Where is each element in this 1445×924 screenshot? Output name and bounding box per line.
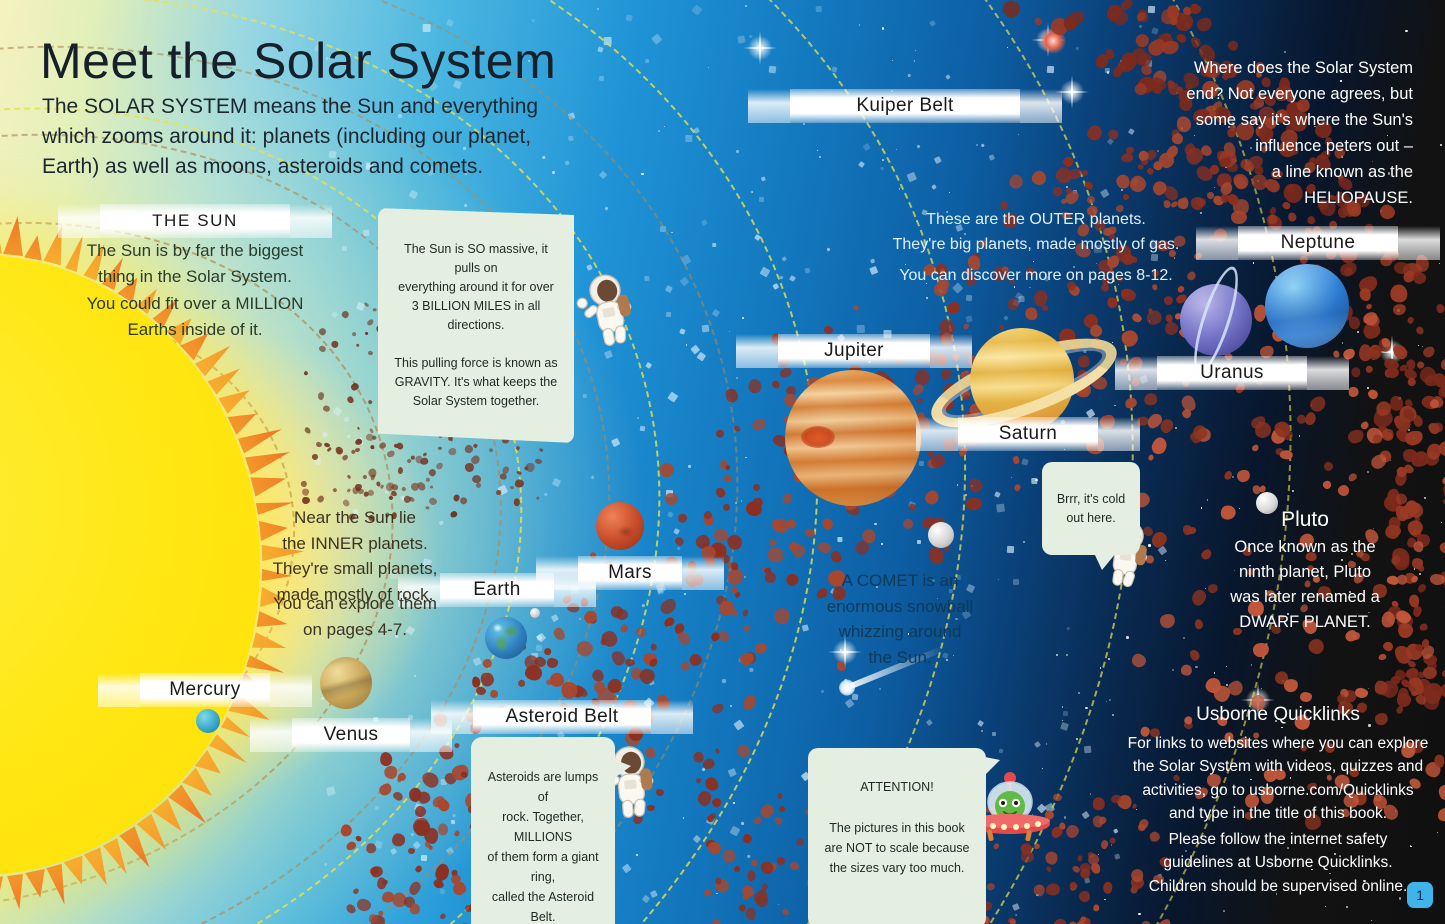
bright-star	[746, 34, 774, 62]
quicklinks-safety: Please follow the internet safety guidel…	[1125, 828, 1431, 898]
star	[1138, 913, 1140, 915]
asteroid	[717, 629, 731, 644]
page-title: Meet the Solar System	[40, 32, 556, 90]
star	[1112, 342, 1113, 343]
star	[1441, 522, 1442, 523]
asteroid	[426, 478, 430, 482]
asteroid-bubble-tail	[613, 759, 631, 779]
asteroid	[302, 489, 310, 497]
star	[1033, 261, 1034, 262]
asteroid	[695, 777, 702, 783]
asteroid	[1060, 198, 1067, 205]
sky-speck	[450, 820, 455, 825]
asteroid	[551, 626, 566, 642]
sky-speck	[346, 434, 350, 438]
asteroid	[365, 331, 369, 335]
sky-speck	[737, 35, 745, 43]
sky-speck	[871, 258, 876, 263]
asteroid	[774, 815, 785, 826]
asteroid	[346, 474, 351, 479]
star	[874, 523, 876, 525]
star	[1062, 720, 1063, 721]
asteroid-bubble: Asteroids are lumps of rock. Together, M…	[471, 737, 615, 924]
asteroid	[303, 371, 308, 376]
star	[1111, 844, 1112, 845]
sky-speck	[599, 76, 604, 81]
asteroid	[1195, 619, 1205, 630]
star	[1405, 30, 1408, 33]
asteroid	[372, 308, 376, 312]
comet-text: A COMET is an enormous snowball whizzing…	[800, 568, 1000, 670]
asteroid	[379, 751, 392, 766]
asteroid	[534, 458, 542, 465]
sky-speck	[1012, 903, 1020, 911]
sky-speck	[804, 268, 810, 274]
planet-earth	[485, 617, 527, 659]
asteroid	[1226, 39, 1239, 52]
sun-flame	[7, 874, 27, 911]
sky-speck	[789, 275, 796, 282]
star	[742, 317, 744, 319]
star	[664, 126, 665, 127]
asteroid	[852, 304, 860, 312]
asteroid	[658, 596, 679, 617]
asteroid	[334, 445, 344, 456]
sky-speck	[1007, 546, 1015, 554]
sky-speck	[604, 207, 608, 211]
asteroid	[388, 495, 394, 500]
asteroid	[902, 518, 914, 530]
sky-speck	[735, 502, 738, 505]
astronaut-icon	[570, 263, 646, 356]
sky-speck	[759, 266, 770, 277]
sky-speck	[668, 392, 679, 403]
asteroid	[765, 544, 786, 565]
asteroid	[1157, 612, 1176, 631]
star	[1346, 906, 1348, 908]
quicklinks-title: Usborne Quicklinks	[1133, 704, 1423, 726]
star	[733, 802, 735, 804]
sky-speck	[907, 172, 917, 182]
asteroid	[730, 609, 738, 617]
asteroid	[1304, 412, 1317, 427]
star	[915, 50, 916, 51]
sky-speck	[691, 344, 700, 353]
asteroid	[368, 351, 373, 356]
bright-star	[1058, 78, 1086, 106]
asteroid	[350, 381, 361, 391]
sky-speck	[1066, 626, 1069, 629]
asteroid	[1417, 582, 1427, 593]
sky-speck	[754, 234, 761, 241]
asteroid	[741, 693, 758, 712]
star	[641, 173, 644, 176]
sky-speck	[1151, 27, 1159, 35]
asteroid	[774, 608, 789, 624]
asteroid	[650, 643, 657, 651]
asteroid	[1410, 691, 1417, 697]
star	[1104, 899, 1106, 901]
bright-star-ray	[1031, 39, 1065, 41]
asteroid	[1351, 367, 1361, 378]
sky-speck	[1013, 578, 1019, 584]
star	[683, 817, 685, 819]
asteroid	[1119, 287, 1136, 302]
asteroid	[366, 842, 377, 853]
asteroid	[1109, 837, 1117, 845]
sky-speck	[463, 203, 468, 208]
star	[1253, 262, 1255, 264]
asteroid	[1366, 388, 1379, 401]
sky-speck	[685, 135, 692, 142]
sky-speck	[423, 23, 431, 31]
sky-speck	[1113, 829, 1118, 834]
asteroid	[332, 487, 338, 493]
asteroid	[449, 448, 458, 457]
asteroid	[1064, 823, 1081, 840]
asteroid	[710, 702, 725, 716]
sky-speck	[919, 461, 924, 466]
planet-mercury	[196, 709, 220, 733]
star	[1109, 699, 1111, 701]
asteroid	[1130, 652, 1147, 669]
star	[1112, 714, 1114, 716]
star	[1367, 471, 1369, 473]
asteroid	[1391, 302, 1407, 316]
star	[744, 576, 746, 578]
asteroid	[722, 503, 732, 513]
asteroid	[1014, 484, 1021, 492]
sky-speck	[323, 862, 328, 867]
sky-speck	[322, 431, 329, 438]
sky-speck	[363, 230, 370, 237]
sky-speck	[926, 719, 933, 726]
sky-speck	[816, 6, 822, 12]
asteroid	[634, 625, 648, 639]
asteroid	[1306, 215, 1316, 225]
asteroid	[1053, 165, 1074, 186]
sky-speck	[604, 36, 612, 44]
asteroid	[817, 542, 832, 554]
sky-speck	[642, 895, 650, 903]
asteroid	[1077, 855, 1082, 861]
asteroid	[1339, 260, 1359, 278]
inner-planets-pages: You can explore them on pages 4-7.	[255, 591, 455, 642]
sky-speck	[945, 74, 951, 80]
asteroid	[673, 535, 685, 547]
asteroid	[439, 913, 447, 920]
asteroid	[1321, 480, 1331, 490]
asteroid	[600, 638, 606, 646]
asteroid	[734, 866, 741, 873]
asteroid	[347, 396, 356, 405]
asteroid	[481, 657, 493, 669]
sky-speck	[446, 847, 455, 856]
asteroid	[318, 345, 327, 353]
star	[1200, 212, 1202, 214]
asteroid	[1103, 881, 1113, 893]
sky-speck	[597, 8, 600, 11]
asteroid	[741, 833, 753, 845]
sky-speck	[994, 491, 1000, 497]
star	[900, 187, 901, 188]
sky-speck	[410, 832, 413, 835]
star	[892, 60, 893, 61]
sky-speck	[680, 255, 691, 266]
star	[1289, 478, 1291, 480]
star	[658, 130, 660, 132]
sky-speck	[446, 19, 454, 27]
asteroid	[1051, 916, 1069, 924]
star	[949, 192, 950, 193]
asteroid	[1251, 443, 1260, 452]
asteroid	[745, 907, 757, 921]
page-number-badge: 1	[1407, 882, 1433, 908]
star	[1085, 707, 1087, 709]
asteroid	[750, 416, 768, 432]
label-jupiter: Jupiter	[778, 334, 930, 368]
sky-speck	[712, 243, 716, 247]
sky-speck	[342, 246, 348, 252]
asteroid	[697, 790, 713, 807]
star	[1232, 476, 1234, 478]
asteroid	[322, 406, 330, 413]
star	[1357, 331, 1359, 333]
sky-speck	[1099, 189, 1109, 199]
asteroid	[1421, 344, 1437, 359]
star	[671, 232, 673, 234]
asteroid	[459, 496, 469, 506]
star	[957, 484, 958, 485]
sun-graphic	[0, 255, 260, 875]
asteroid	[1100, 839, 1109, 849]
asteroid	[411, 456, 415, 461]
asteroid	[363, 302, 369, 308]
asteroid	[780, 908, 789, 917]
sky-speck	[333, 407, 343, 417]
asteroid	[1365, 364, 1375, 374]
asteroid	[724, 387, 740, 404]
asteroid	[377, 781, 394, 798]
sky-speck	[977, 720, 984, 727]
asteroid	[1252, 641, 1270, 658]
asteroid	[344, 902, 357, 915]
sky-speck	[772, 283, 779, 290]
asteroid	[1085, 123, 1104, 142]
star	[686, 344, 687, 345]
star	[1046, 743, 1047, 744]
sun-flame	[251, 469, 289, 497]
sky-speck	[673, 528, 680, 535]
star	[1172, 669, 1174, 671]
sky-speck	[665, 311, 671, 317]
asteroid	[1131, 312, 1144, 324]
asteroid	[742, 608, 749, 616]
label-asteroid-belt: Asteroid Belt	[473, 700, 651, 734]
asteroid	[1412, 271, 1428, 286]
asteroid	[828, 549, 842, 564]
astronaut-svg	[570, 263, 645, 352]
sky-speck	[551, 614, 559, 622]
sky-speck	[1034, 741, 1041, 748]
asteroid	[354, 437, 363, 445]
asteroid	[1086, 195, 1097, 206]
star	[1325, 906, 1326, 907]
star	[976, 144, 978, 146]
sun-flame	[25, 869, 50, 899]
earth-moon	[530, 608, 540, 618]
asteroid	[368, 468, 378, 478]
asteroid	[1195, 16, 1214, 34]
asteroid	[355, 835, 363, 842]
sky-speck	[759, 197, 765, 203]
asteroid	[473, 444, 478, 449]
asteroid	[1147, 454, 1154, 462]
asteroid	[356, 343, 360, 347]
sky-speck	[645, 59, 650, 64]
star	[741, 500, 743, 502]
star	[1419, 573, 1421, 575]
star	[1106, 701, 1107, 702]
asteroid	[662, 616, 675, 629]
asteroid	[357, 426, 361, 430]
asteroid	[789, 861, 800, 872]
asteroid	[716, 429, 724, 438]
asteroid	[1377, 652, 1387, 660]
asteroid	[714, 486, 727, 499]
star	[1108, 658, 1110, 660]
sky-speck	[676, 546, 681, 551]
asteroid	[415, 865, 424, 874]
asteroid	[776, 856, 785, 865]
planet-mars	[596, 502, 644, 550]
asteroid	[916, 397, 924, 404]
star	[730, 705, 732, 707]
star	[1367, 387, 1369, 389]
asteroid	[986, 883, 995, 892]
asteroid	[1441, 474, 1445, 486]
asteroid	[620, 623, 629, 633]
star	[1422, 346, 1423, 347]
asteroid	[398, 467, 404, 474]
asteroid	[1008, 172, 1025, 190]
sky-speck	[749, 668, 754, 673]
asteroid	[1415, 326, 1425, 336]
asteroid	[609, 649, 627, 668]
star	[926, 297, 928, 299]
asteroid	[356, 898, 372, 912]
star	[1011, 477, 1012, 478]
sky-speck	[1060, 722, 1069, 731]
star	[1023, 541, 1025, 543]
asteroid	[341, 453, 349, 461]
star	[1223, 910, 1225, 912]
sky-speck	[390, 847, 397, 854]
star	[684, 593, 686, 595]
star	[1076, 738, 1078, 740]
star	[1090, 793, 1091, 794]
asteroid	[1436, 806, 1445, 823]
asteroid	[434, 880, 445, 890]
sky-speck	[858, 161, 865, 168]
asteroid	[1408, 594, 1419, 607]
label-mars: Mars	[578, 556, 682, 590]
asteroid	[1114, 173, 1132, 191]
label-uranus: Uranus	[1157, 356, 1307, 390]
asteroid	[377, 878, 386, 890]
star	[1440, 144, 1442, 146]
sky-speck	[531, 19, 534, 22]
sky-speck	[916, 145, 920, 149]
asteroid	[463, 444, 474, 455]
star	[899, 188, 901, 190]
sky-speck	[552, 478, 561, 487]
sun-description: The Sun is by far the biggest thing in t…	[70, 238, 320, 343]
asteroid	[1009, 918, 1017, 924]
star	[1018, 134, 1020, 136]
sky-speck	[667, 511, 673, 517]
sky-speck	[857, 324, 865, 332]
star	[1299, 435, 1301, 437]
star	[1214, 672, 1216, 674]
great-red-spot	[801, 426, 835, 448]
moon-small	[928, 522, 954, 548]
outer-planets-text: These are the OUTER planets. They're big…	[886, 208, 1186, 258]
planet-jupiter	[785, 370, 921, 506]
sky-speck	[769, 66, 776, 73]
star	[817, 150, 819, 152]
asteroid	[301, 481, 308, 488]
sky-speck	[421, 855, 427, 861]
sky-speck	[691, 4, 702, 15]
asteroid	[1033, 17, 1044, 27]
asteroid	[544, 648, 552, 656]
sky-speck	[697, 352, 706, 361]
star	[1126, 636, 1129, 639]
sky-speck	[863, 143, 871, 151]
asteroid	[1419, 623, 1428, 631]
asteroid	[1382, 641, 1394, 653]
bright-star-ray	[1071, 75, 1073, 109]
asteroid	[785, 573, 800, 588]
sky-speck	[996, 504, 1004, 512]
star	[1368, 688, 1369, 689]
star	[1418, 345, 1419, 346]
asteroid	[1180, 664, 1192, 676]
asteroid	[1106, 127, 1120, 141]
star	[1165, 560, 1166, 561]
star	[882, 27, 885, 30]
sky-speck	[1138, 24, 1142, 28]
cold-bubble-text: Brrr, it's cold out here.	[1057, 492, 1125, 525]
asteroid	[1235, 468, 1252, 484]
asteroid	[378, 441, 387, 449]
sky-speck	[1114, 853, 1120, 859]
star	[1078, 692, 1080, 694]
sky-speck	[679, 277, 689, 287]
asteroid	[1044, 851, 1058, 866]
attention-bubble: ATTENTION! The pictures in this book are…	[808, 748, 986, 924]
asteroid	[1406, 316, 1414, 325]
star	[729, 331, 730, 332]
sky-speck	[650, 890, 658, 898]
sun-flame	[3, 215, 27, 256]
asteroid	[539, 447, 544, 452]
asteroid	[435, 461, 444, 470]
asteroid	[366, 319, 374, 327]
quicklinks-body: For links to websites where you can expl…	[1125, 732, 1431, 825]
sky-speck	[1147, 6, 1154, 13]
